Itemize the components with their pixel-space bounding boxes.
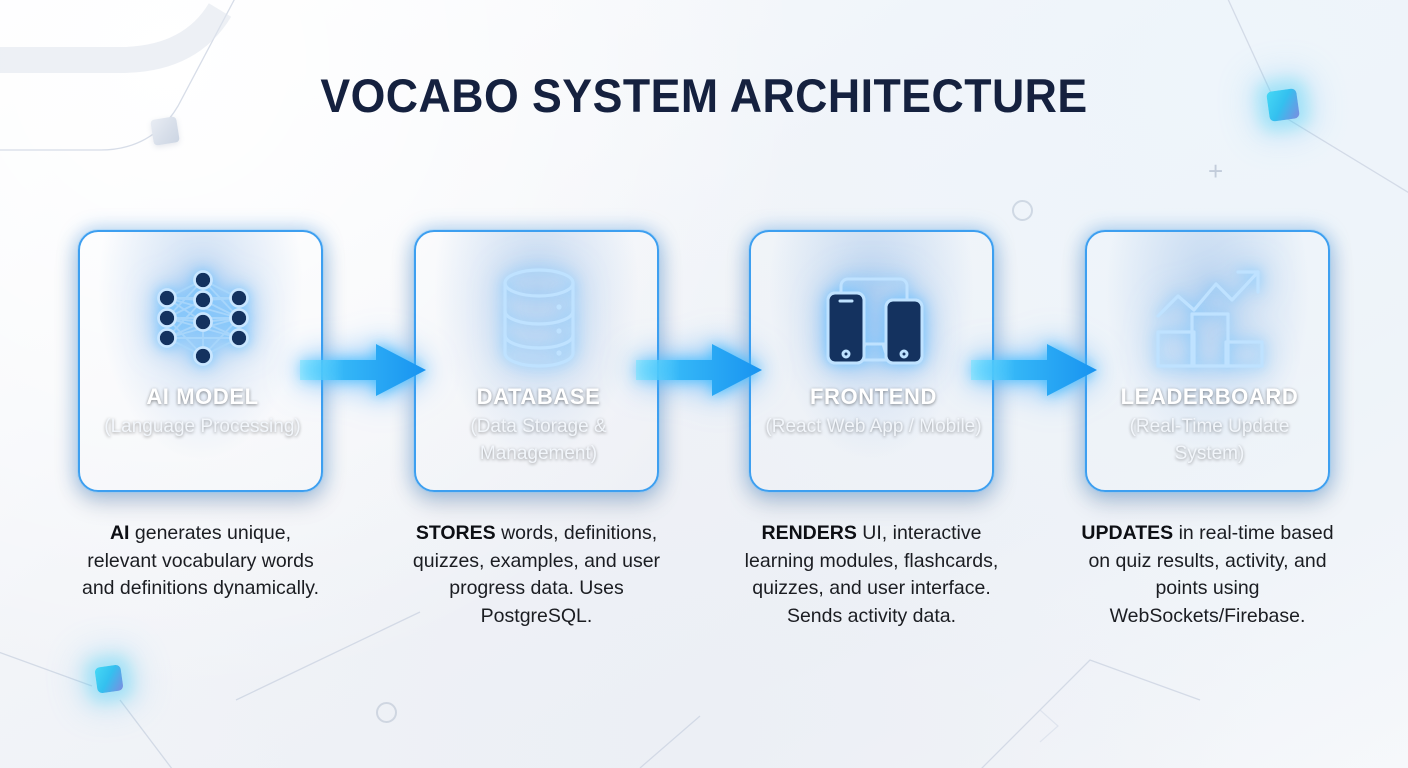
node-card[interactable]: FRONTEND (React Web App / Mobile)	[749, 230, 994, 492]
node-label-block: AI MODEL (Language Processing)	[90, 384, 315, 441]
caption-lead: STORES	[416, 522, 496, 544]
node-label-block: LEADERBOARD (Real-Time Update System)	[1097, 384, 1322, 467]
caption-leaderboard: UPDATES in real-time based on quiz resul…	[1080, 520, 1335, 631]
arrow-frontend-to-leaderboard	[971, 338, 1101, 402]
architecture-diagram-canvas: + VOCABO SYSTEM ARCHITECTURE	[0, 0, 1408, 768]
arrow-ai-to-database	[300, 338, 430, 402]
node-title: AI MODEL	[90, 384, 315, 409]
arrow-database-to-frontend	[636, 338, 766, 402]
plus-mark-icon: +	[1208, 158, 1223, 184]
node-ai-model[interactable]: AI MODEL (Language Processing)	[78, 230, 323, 492]
node-frontend[interactable]: FRONTEND (React Web App / Mobile)	[749, 230, 994, 492]
node-subtitle: (Data Storage & Management)	[426, 414, 651, 466]
page-title: VOCABO SYSTEM ARCHITECTURE	[35, 68, 1373, 123]
ring-icon-upper-right	[1012, 200, 1033, 221]
node-subtitle: (Real-Time Update System)	[1097, 414, 1322, 466]
node-label-block: DATABASE (Data Storage & Management)	[426, 384, 651, 467]
node-card[interactable]: LEADERBOARD (Real-Time Update System)	[1085, 230, 1330, 492]
devices-icon	[751, 250, 994, 385]
node-leaderboard[interactable]: LEADERBOARD (Real-Time Update System)	[1085, 230, 1330, 492]
database-cylinder-icon	[416, 250, 659, 385]
ring-icon-lower-left	[376, 702, 397, 723]
caption-ai-model: AI generates unique, relevant vocabulary…	[73, 520, 328, 603]
node-card[interactable]: DATABASE (Data Storage & Management)	[414, 230, 659, 492]
node-subtitle: (Language Processing)	[90, 414, 315, 440]
bar-chart-trend-icon	[1087, 250, 1330, 385]
caption-database: STORES words, definitions, quizzes, exam…	[409, 520, 664, 631]
node-database[interactable]: DATABASE (Data Storage & Management)	[414, 230, 659, 492]
neural-network-icon	[80, 250, 323, 385]
caption-lead: AI	[110, 522, 130, 544]
node-title: DATABASE	[426, 384, 651, 409]
caption-lead: RENDERS	[762, 522, 857, 544]
node-title: FRONTEND	[761, 384, 986, 409]
caption-frontend: RENDERS UI, interactive learning modules…	[744, 520, 999, 631]
node-captions-row: AI generates unique, relevant vocabulary…	[0, 520, 1408, 690]
node-label-block: FRONTEND (React Web App / Mobile)	[761, 384, 986, 441]
node-title: LEADERBOARD	[1097, 384, 1322, 409]
node-subtitle: (React Web App / Mobile)	[761, 414, 986, 440]
node-card[interactable]: AI MODEL (Language Processing)	[78, 230, 323, 492]
caption-lead: UPDATES	[1081, 522, 1173, 544]
